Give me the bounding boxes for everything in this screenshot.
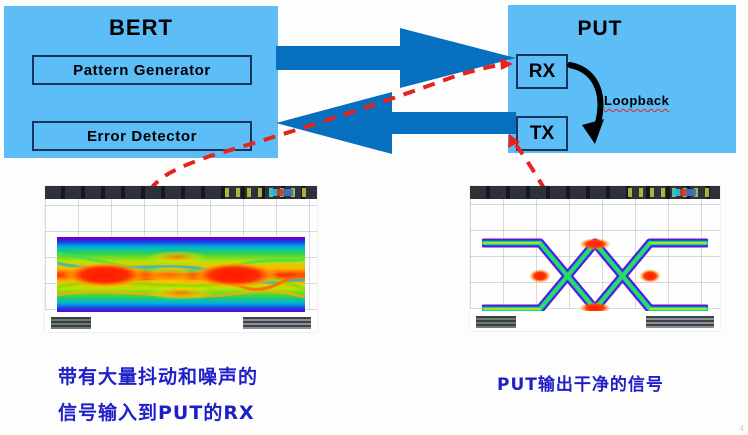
scope-left-footer-right-badge (243, 317, 311, 329)
scope-right-graticule (470, 199, 720, 309)
scope-right-toolbar (470, 186, 720, 199)
scope-left-toolbar-icons (225, 188, 311, 197)
clean-eye-diagram (482, 235, 708, 317)
rx-port-label: RX (529, 61, 555, 83)
forward-stimulus-arrow (276, 28, 516, 88)
scope-right-footer (470, 311, 720, 331)
pattern-generator-block: Pattern Generator (32, 55, 252, 85)
error-detector-label: Error Detector (87, 128, 197, 145)
scope-right-footer-left-badge (476, 316, 516, 328)
loopback-label: Loopback (604, 93, 669, 108)
scope-left-graticule (45, 199, 317, 310)
scope-right (470, 186, 720, 331)
put-panel-title: PUT (486, 17, 714, 41)
pattern-generator-label: Pattern Generator (73, 62, 211, 79)
put-panel: PUT RX TX Loopback (508, 5, 736, 153)
error-detector-block: Error Detector (32, 121, 252, 151)
scope-left-toolbar (45, 186, 317, 199)
scope-left-footer-left-badge (51, 317, 91, 329)
caption-left-line2: 信号输入到PUT的RX (58, 398, 255, 425)
scope-right-footer-right-badge (646, 316, 714, 328)
scope-left (45, 186, 317, 332)
tx-port-label: TX (530, 123, 554, 145)
tx-port-block: TX (516, 116, 568, 151)
bert-panel-title: BERT (4, 15, 278, 41)
scope-left-toolbar-color-icons (269, 189, 293, 196)
caption-right: PUT输出干净的信号 (497, 370, 664, 395)
page-number: 4 (740, 424, 744, 433)
caption-left-line1: 带有大量抖动和噪声的 (58, 362, 258, 389)
scope-right-toolbar-icons (628, 188, 714, 197)
rx-port-block: RX (516, 54, 568, 89)
bert-panel: BERT Pattern Generator Error Detector (4, 6, 278, 158)
noisy-eye-diagram (57, 237, 305, 313)
return-response-arrow (276, 92, 516, 154)
scope-left-footer (45, 312, 317, 332)
slide-canvas: BERT Pattern Generator Error Detector PU… (0, 0, 748, 435)
scope-right-toolbar-color-icons (672, 189, 696, 196)
